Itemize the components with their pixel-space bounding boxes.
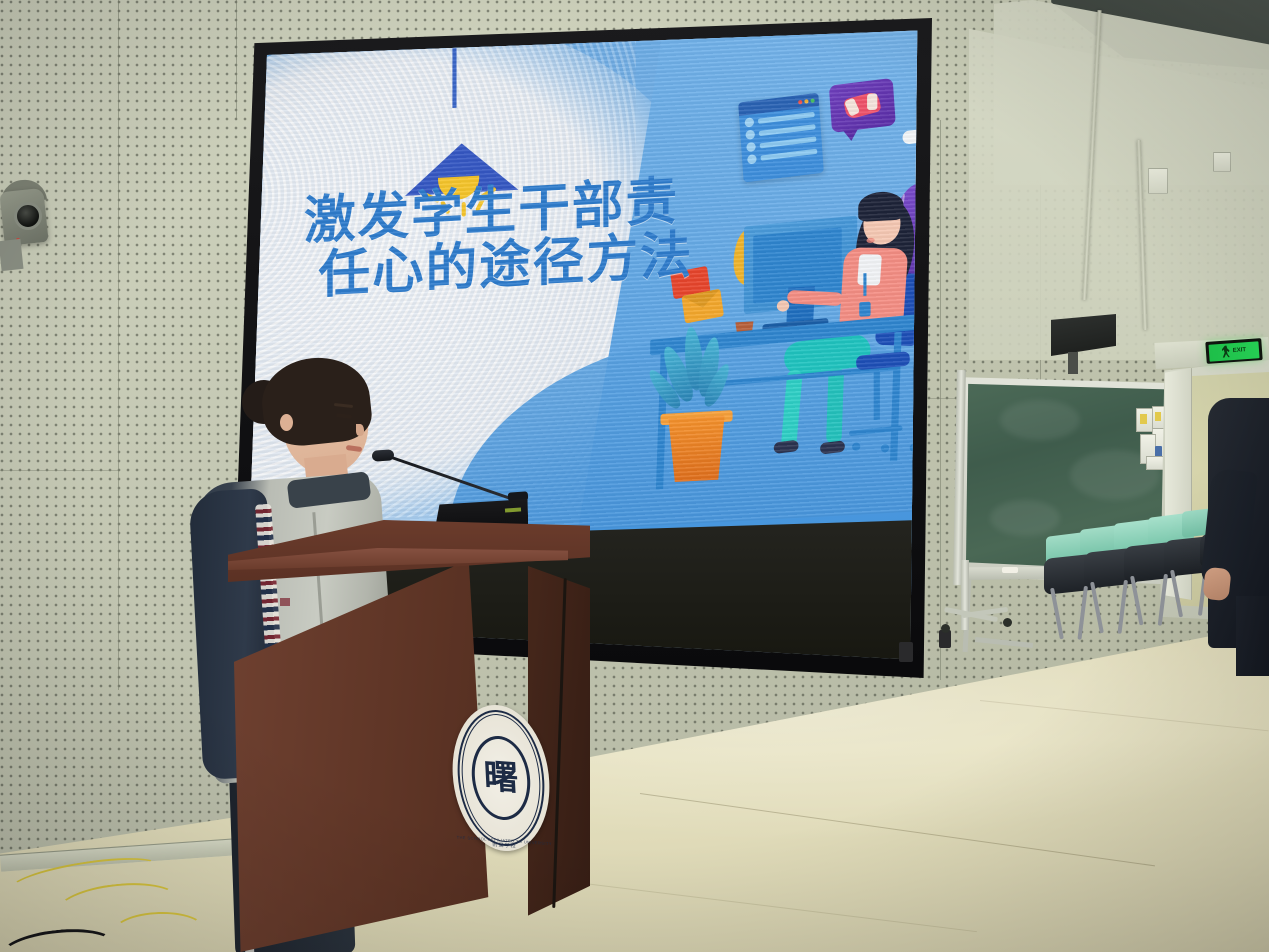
chair-leg [1130, 576, 1143, 626]
list-line [760, 148, 817, 160]
wall-box [1213, 152, 1231, 172]
chalkboard-wheel [941, 624, 950, 633]
chalkboard-post [961, 560, 969, 630]
running-man-icon [1221, 345, 1230, 358]
large-plant-pot [665, 415, 729, 482]
chair-leg [1077, 586, 1088, 640]
switch-indicator [1155, 412, 1161, 421]
chalk-piece[interactable] [1002, 567, 1018, 573]
screen-stand-foot [899, 642, 913, 662]
chalkboard-wheel [1003, 618, 1012, 627]
microphone-head-icon [372, 449, 395, 462]
wooden-podium: 曙 THE SCHOOL AFFILIATED TO UNIVERSITY 附属… [228, 520, 590, 952]
woman-lanyard [864, 273, 867, 296]
app-window-illustration [738, 92, 824, 182]
presenter-nose [356, 424, 364, 436]
window-close-dot-icon [798, 99, 802, 104]
handshake-icon [843, 91, 882, 120]
woman-leg [825, 367, 843, 444]
avatar-icon [744, 117, 754, 127]
woman-arm [787, 290, 844, 306]
woman-id-badge [859, 302, 870, 317]
presentation-room-photo: 激发学生干部责 任心的途径方法 [0, 0, 1269, 952]
woman-shirt [857, 254, 882, 285]
person-right-leg [1236, 596, 1269, 676]
avatar-icon [745, 129, 755, 139]
window-minimize-dot-icon [804, 98, 808, 103]
exit-sign-face: EXIT [1208, 341, 1259, 361]
emblem-character: 曙 [483, 760, 519, 796]
chalk-smudge [1000, 400, 1080, 440]
woman-hand [776, 300, 788, 312]
emblem-ring-text-cn: 附属学校 [492, 841, 517, 850]
wall-box [1148, 168, 1168, 194]
handshake-cuff-right [867, 93, 877, 110]
person-right-hand [1202, 567, 1231, 602]
avatar-icon [746, 141, 756, 151]
office-chair-post [874, 370, 880, 420]
switch-indicator [1140, 414, 1147, 424]
chair-leg [1170, 570, 1183, 618]
exit-sign-label: EXIT [1233, 347, 1247, 354]
lamp-cord [452, 48, 456, 108]
speaker-bracket [1068, 352, 1078, 374]
handshake-bubble-icon [829, 78, 896, 133]
chair-leg [1158, 574, 1168, 626]
window-maximize-dot-icon [810, 97, 814, 102]
camera-mount-arm [0, 239, 24, 271]
handshake-cuff-left [844, 98, 860, 117]
wall-seam [0, 470, 120, 471]
presenter-ear [280, 414, 293, 431]
chair-leg [1117, 580, 1128, 634]
wall-seam [940, 120, 941, 680]
emergency-exit-sign: EXIT [1205, 338, 1262, 364]
woman-hair-top [858, 191, 903, 222]
wall-seam [118, 0, 119, 690]
camera-lens-icon [14, 202, 42, 230]
chair-leg [1050, 588, 1064, 640]
avatar-icon [746, 154, 756, 164]
chair-leg [1090, 582, 1104, 634]
